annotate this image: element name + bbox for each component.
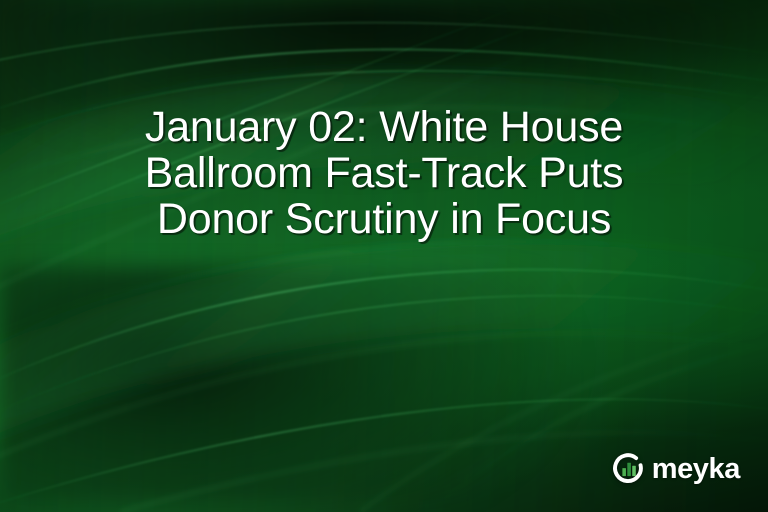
background-wave-streaks bbox=[0, 0, 768, 512]
circle-bar-chart-icon bbox=[612, 452, 646, 486]
news-card: January 02: White House Ballroom Fast-Tr… bbox=[0, 0, 768, 512]
meyka-logo[interactable]: meyka bbox=[612, 452, 740, 486]
headline-line-3: Donor Scrutiny in Focus bbox=[157, 196, 611, 242]
headline-line-2: Ballroom Fast-Track Puts bbox=[145, 150, 624, 196]
headline-line-1: January 02: White House bbox=[145, 104, 623, 150]
headline-block: January 02: White House Ballroom Fast-Tr… bbox=[0, 104, 768, 242]
logo-wordmark: meyka bbox=[652, 455, 740, 484]
